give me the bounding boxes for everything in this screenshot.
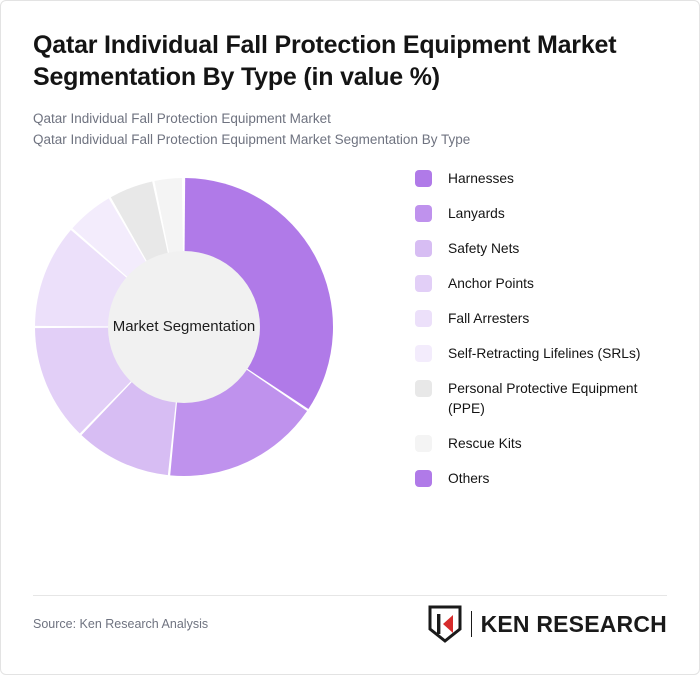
page-title: Qatar Individual Fall Protection Equipme…: [33, 29, 643, 93]
donut-chart: Market Segmentation: [29, 167, 359, 487]
brand-logo: KEN RESEARCH: [428, 605, 667, 643]
legend-swatch: [415, 240, 432, 257]
legend-swatch: [415, 345, 432, 362]
legend-label: Harnesses: [448, 169, 514, 189]
legend-label: Fall Arresters: [448, 309, 529, 329]
subtitle-segmentation: Qatar Individual Fall Protection Equipme…: [33, 130, 667, 151]
legend-item[interactable]: Lanyards: [415, 204, 671, 224]
legend-item[interactable]: Others: [415, 469, 671, 489]
legend-swatch: [415, 170, 432, 187]
legend-label: Lanyards: [448, 204, 505, 224]
chart-footer: Source: Ken Research Analysis KEN RESEAR…: [33, 604, 667, 644]
chart-body: Market Segmentation HarnessesLanyardsSaf…: [1, 167, 699, 517]
source-text: Source: Ken Research Analysis: [33, 617, 208, 631]
legend-swatch: [415, 470, 432, 487]
legend-label: Anchor Points: [448, 274, 534, 294]
footer-divider: [33, 595, 667, 596]
donut-svg: [34, 177, 334, 477]
legend-swatch: [415, 380, 432, 397]
legend-swatch: [415, 205, 432, 222]
legend-swatch: [415, 275, 432, 292]
ken-research-shield-icon: [428, 605, 462, 643]
brand-separator: [471, 611, 472, 637]
legend-item[interactable]: Anchor Points: [415, 274, 671, 294]
legend-item[interactable]: Fall Arresters: [415, 309, 671, 329]
legend-label: Safety Nets: [448, 239, 519, 259]
donut-hole: [108, 251, 260, 403]
chart-legend: HarnessesLanyardsSafety NetsAnchor Point…: [359, 167, 671, 504]
legend-item[interactable]: Harnesses: [415, 169, 671, 189]
chart-card: Qatar Individual Fall Protection Equipme…: [0, 0, 700, 675]
legend-label: Personal Protective Equipment (PPE): [448, 379, 668, 418]
legend-item[interactable]: Personal Protective Equipment (PPE): [415, 379, 671, 418]
legend-label: Others: [448, 469, 489, 489]
legend-swatch: [415, 310, 432, 327]
legend-label: Self-Retracting Lifelines (SRLs): [448, 344, 640, 364]
legend-item[interactable]: Rescue Kits: [415, 434, 671, 454]
brand-name: KEN RESEARCH: [481, 611, 667, 638]
legend-item[interactable]: Self-Retracting Lifelines (SRLs): [415, 344, 671, 364]
subtitle-market: Qatar Individual Fall Protection Equipme…: [33, 109, 667, 130]
legend-label: Rescue Kits: [448, 434, 522, 454]
legend-swatch: [415, 435, 432, 452]
legend-item[interactable]: Safety Nets: [415, 239, 671, 259]
chart-header: Qatar Individual Fall Protection Equipme…: [1, 1, 699, 151]
chart-subtitles: Qatar Individual Fall Protection Equipme…: [33, 109, 667, 151]
